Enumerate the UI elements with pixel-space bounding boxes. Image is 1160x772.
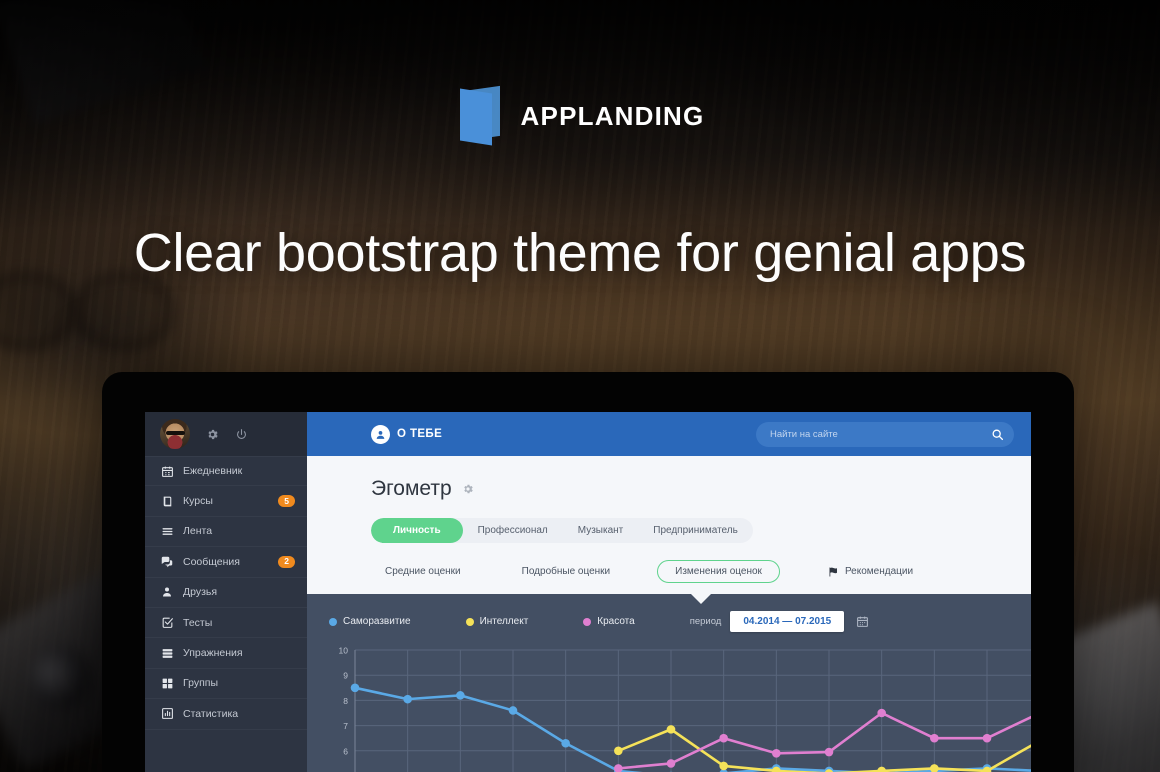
list-icon	[160, 524, 174, 538]
power-icon[interactable]	[235, 428, 248, 441]
tab-musician[interactable]: Музыкант	[563, 518, 638, 543]
subnav-score-changes[interactable]: Изменения оценок	[657, 560, 780, 583]
app-screen: Ежедневник Курсы 5	[145, 412, 1031, 772]
brand-lockup: APPLANDING	[0, 88, 1160, 144]
data-point[interactable]	[667, 759, 676, 768]
sidebar-footer: О проекте	[145, 766, 307, 772]
sidebar-item-feed[interactable]: Лента	[145, 517, 307, 547]
legend-dot	[329, 618, 337, 626]
chart-legend: Саморазвитие Интеллект Красота период 04…	[329, 611, 1011, 632]
search-placeholder: Найти на сайте	[770, 429, 991, 440]
data-point[interactable]	[719, 734, 728, 743]
data-point[interactable]	[614, 764, 623, 772]
user-icon	[160, 585, 174, 599]
sidebar-item-messages[interactable]: Сообщения 2	[145, 547, 307, 577]
legend-item-krasota[interactable]: Красота	[583, 616, 634, 627]
search-input[interactable]: Найти на сайте	[756, 422, 1014, 447]
app-name: О ТЕБЕ	[397, 428, 442, 440]
subnav-detailed-scores[interactable]: Подробные оценки	[508, 561, 625, 582]
period-label: период	[690, 616, 722, 627]
bar-chart-icon	[160, 707, 174, 721]
data-point[interactable]	[509, 706, 518, 715]
gear-icon[interactable]	[206, 428, 219, 441]
sidebar: Ежедневник Курсы 5	[145, 412, 307, 772]
sidebar-header	[145, 412, 307, 456]
data-point[interactable]	[772, 749, 781, 758]
sidebar-item-label: Друзья	[183, 586, 295, 598]
app-logo[interactable]: О ТЕБЕ	[371, 425, 442, 444]
search-icon[interactable]	[991, 428, 1004, 441]
sidebar-item-label: Лента	[183, 525, 295, 537]
laptop-frame: Ежедневник Курсы 5	[102, 372, 1074, 772]
tab-professional[interactable]: Профессионал	[463, 518, 563, 543]
data-point[interactable]	[456, 691, 465, 700]
data-point[interactable]	[930, 764, 939, 772]
gear-icon[interactable]	[462, 483, 474, 495]
hero-headline: Clear bootstrap theme for genial apps	[0, 222, 1160, 284]
data-point[interactable]	[614, 747, 623, 756]
brand-name: APPLANDING	[521, 101, 705, 132]
sidebar-item-groups[interactable]: Группы	[145, 669, 307, 699]
sidebar-item-label: Курсы	[183, 495, 278, 507]
grid-icon	[160, 676, 174, 690]
sidebar-badge: 5	[278, 495, 295, 507]
legend-label: Интеллект	[480, 616, 529, 627]
data-point[interactable]	[877, 767, 886, 772]
data-point[interactable]	[825, 748, 834, 757]
sidebar-item-diary[interactable]: Ежедневник	[145, 456, 307, 486]
y-axis-tick: 7	[343, 721, 348, 731]
legend-label: Саморазвитие	[343, 616, 411, 627]
calendar-icon[interactable]	[856, 615, 869, 628]
data-point[interactable]	[930, 734, 939, 743]
data-point[interactable]	[877, 709, 886, 718]
tab-entrepreneur[interactable]: Предприниматель	[638, 518, 753, 543]
data-point[interactable]	[561, 739, 570, 748]
sidebar-item-label: Статистика	[183, 708, 295, 720]
page-title: Эгометр	[371, 477, 452, 501]
sidebar-item-label: Упражнения	[183, 647, 295, 659]
sidebar-menu: Ежедневник Курсы 5	[145, 456, 307, 766]
subnav-average-scores[interactable]: Средние оценки	[371, 561, 475, 582]
main-area: О ТЕБЕ Найти на сайте	[307, 412, 1031, 772]
y-axis-tick: 10	[339, 646, 349, 656]
sidebar-item-exercises[interactable]: Упражнения	[145, 638, 307, 668]
book-pages-icon	[456, 88, 504, 144]
sidebar-item-label: Группы	[183, 677, 295, 689]
legend-item-samorazvitie[interactable]: Саморазвитие	[329, 616, 411, 627]
page-stage: APPLANDING Clear bootstrap theme for gen…	[0, 0, 1160, 772]
legend-label: Красота	[597, 616, 634, 627]
sidebar-item-label: Тесты	[183, 617, 295, 629]
sidebar-item-statistics[interactable]: Статистика	[145, 699, 307, 729]
flag-icon	[827, 566, 839, 578]
avatar[interactable]	[160, 419, 190, 449]
legend-item-intellekt[interactable]: Интеллект	[466, 616, 529, 627]
data-point[interactable]	[983, 734, 992, 743]
y-axis-tick: 6	[343, 746, 348, 756]
profile-tabs: Личность Профессионал Музыкант Предприни…	[371, 518, 753, 543]
content-header: Эгометр Личность Профессионал Музыкант П…	[307, 456, 1031, 594]
data-point[interactable]	[403, 695, 412, 704]
sidebar-item-friends[interactable]: Друзья	[145, 578, 307, 608]
subnav-recommendations[interactable]: Рекомендации	[813, 561, 927, 583]
sidebar-badge: 2	[278, 556, 295, 568]
period-value-field[interactable]: 04.2014 — 07.2015	[730, 611, 844, 632]
legend-dot	[583, 618, 591, 626]
subnav-label: Рекомендации	[845, 566, 913, 577]
page-title-row: Эгометр	[371, 477, 1031, 501]
sidebar-item-courses[interactable]: Курсы 5	[145, 486, 307, 516]
data-point[interactable]	[719, 762, 728, 771]
sub-navigation: Средние оценки Подробные оценки Изменени…	[371, 560, 1031, 594]
chat-icon	[160, 555, 174, 569]
user-circle-icon	[371, 425, 390, 444]
chart-panel: Саморазвитие Интеллект Красота период 04…	[307, 594, 1031, 772]
top-bar: О ТЕБЕ Найти на сайте	[307, 412, 1031, 456]
data-point[interactable]	[351, 684, 360, 693]
sidebar-item-label: Сообщения	[183, 556, 278, 568]
rows-icon	[160, 646, 174, 660]
sidebar-item-label: Ежедневник	[183, 465, 295, 477]
chart-plot: 109876	[329, 646, 1011, 772]
sidebar-item-tests[interactable]: Тесты	[145, 608, 307, 638]
legend-dot	[466, 618, 474, 626]
panel-pointer	[690, 593, 712, 604]
tab-lichnost[interactable]: Личность	[371, 518, 463, 543]
y-axis-tick: 9	[343, 671, 348, 681]
line-chart-svg: 109876	[329, 646, 1031, 772]
calendar-icon	[160, 464, 174, 478]
y-axis-tick: 8	[343, 696, 348, 706]
checkbox-icon	[160, 616, 174, 630]
data-point[interactable]	[667, 725, 676, 734]
book-icon	[160, 494, 174, 508]
